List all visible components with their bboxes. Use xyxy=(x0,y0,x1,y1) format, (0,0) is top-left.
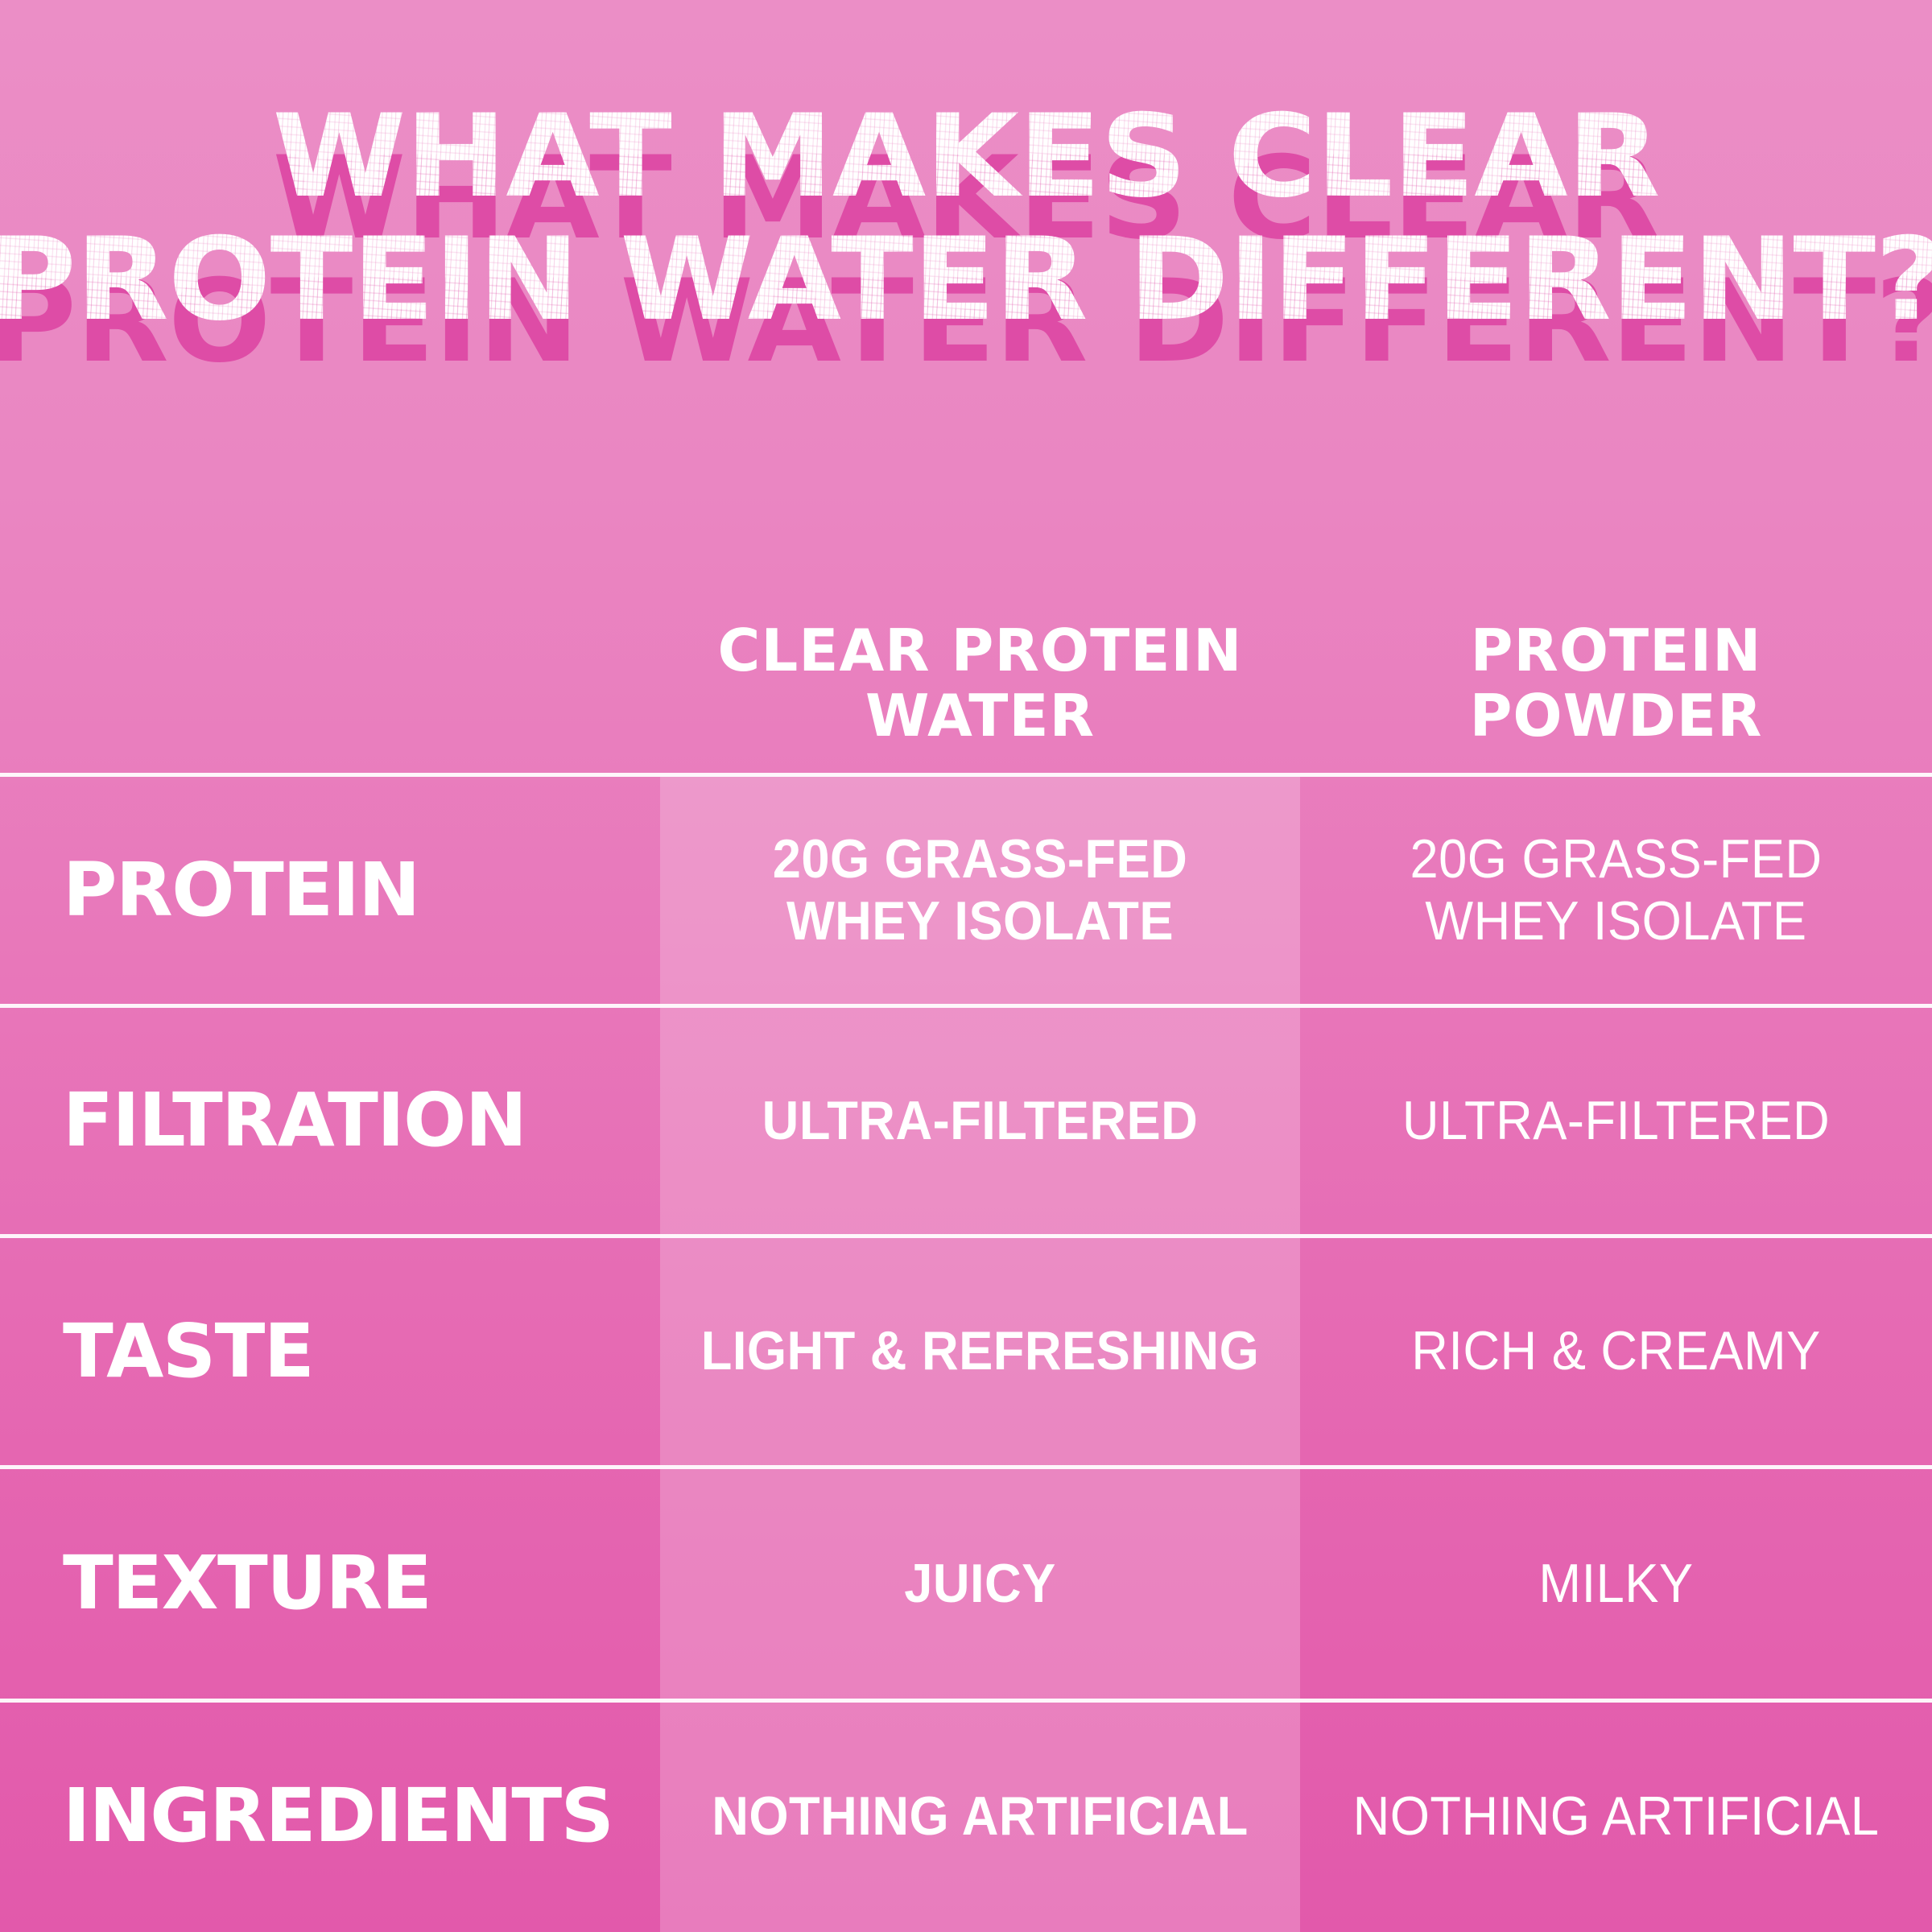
row-divider xyxy=(0,1699,1932,1703)
table-row: TASTE LIGHT & REFRESHING RICH & CREAMY xyxy=(0,1236,1932,1467)
row-divider xyxy=(0,773,1932,777)
row-label-filtration: FILTRATION xyxy=(0,1083,660,1158)
row-label-ingredients: INGREDIENTS xyxy=(0,1778,660,1854)
title-line-1-shadow: WHAT MAKES CLEAR xyxy=(0,147,1932,252)
column-header-clear-protein-water: CLEAR PROTEIN WATER xyxy=(660,589,1300,748)
cell-filtration-clear-protein-water: ULTRA-FILTERED xyxy=(683,1090,1278,1151)
cell-ingredients-protein-powder: NOTHING ARTIFICIAL xyxy=(1322,1785,1909,1847)
cell-protein-protein-powder: 20g GRASS-FED WHEY ISOLATE xyxy=(1322,828,1909,951)
table-row: TEXTURE JUICY MILKY xyxy=(0,1467,1932,1700)
table-row: INGREDIENTS NOTHING ARTIFICIAL NOTHING A… xyxy=(0,1700,1932,1932)
row-label-texture: TEXTURE xyxy=(0,1546,660,1621)
title-line-1-fill: WHAT MAKES CLEAR xyxy=(0,105,1932,210)
row-divider xyxy=(0,1234,1932,1238)
cell-texture-protein-powder: MILKY xyxy=(1322,1553,1909,1614)
comparison-infographic: WHAT MAKES CLEAR WHAT MAKES CLEAR PROTEI… xyxy=(0,0,1932,1932)
title-line-2-shadow: PROTEIN WATER DIFFERENT? xyxy=(0,270,1932,375)
cell-ingredients-clear-protein-water: NOTHING ARTIFICIAL xyxy=(683,1785,1278,1847)
cell-taste-protein-powder: RICH & CREAMY xyxy=(1322,1320,1909,1381)
title-line-2-fill: PROTEIN WATER DIFFERENT? xyxy=(0,228,1932,333)
table-header-row: CLEAR PROTEIN WATER PROTEIN POWDER xyxy=(0,563,1932,774)
row-label-taste: TASTE xyxy=(0,1314,660,1389)
column-header-protein-powder: PROTEIN POWDER xyxy=(1300,589,1932,748)
row-divider xyxy=(0,1004,1932,1008)
page-title: WHAT MAKES CLEAR WHAT MAKES CLEAR PROTEI… xyxy=(0,105,1932,332)
table-row: PROTEIN 20g GRASS-FED WHEY ISOLATE 20g G… xyxy=(0,774,1932,1005)
title-line-1: WHAT MAKES CLEAR WHAT MAKES CLEAR xyxy=(0,105,1932,210)
comparison-table: CLEAR PROTEIN WATER PROTEIN POWDER PROTE… xyxy=(0,563,1932,1932)
title-line-2: PROTEIN WATER DIFFERENT? PROTEIN WATER D… xyxy=(0,228,1932,333)
cell-filtration-protein-powder: ULTRA-FILTERED xyxy=(1322,1090,1909,1151)
cell-texture-clear-protein-water: JUICY xyxy=(683,1553,1278,1614)
row-divider xyxy=(0,1465,1932,1469)
table-row: FILTRATION ULTRA-FILTERED ULTRA-FILTERED xyxy=(0,1005,1932,1236)
row-label-protein: PROTEIN xyxy=(0,852,660,928)
cell-taste-clear-protein-water: LIGHT & REFRESHING xyxy=(683,1320,1278,1381)
cell-protein-clear-protein-water: 20g GRASS-FED WHEY ISOLATE xyxy=(683,828,1278,951)
